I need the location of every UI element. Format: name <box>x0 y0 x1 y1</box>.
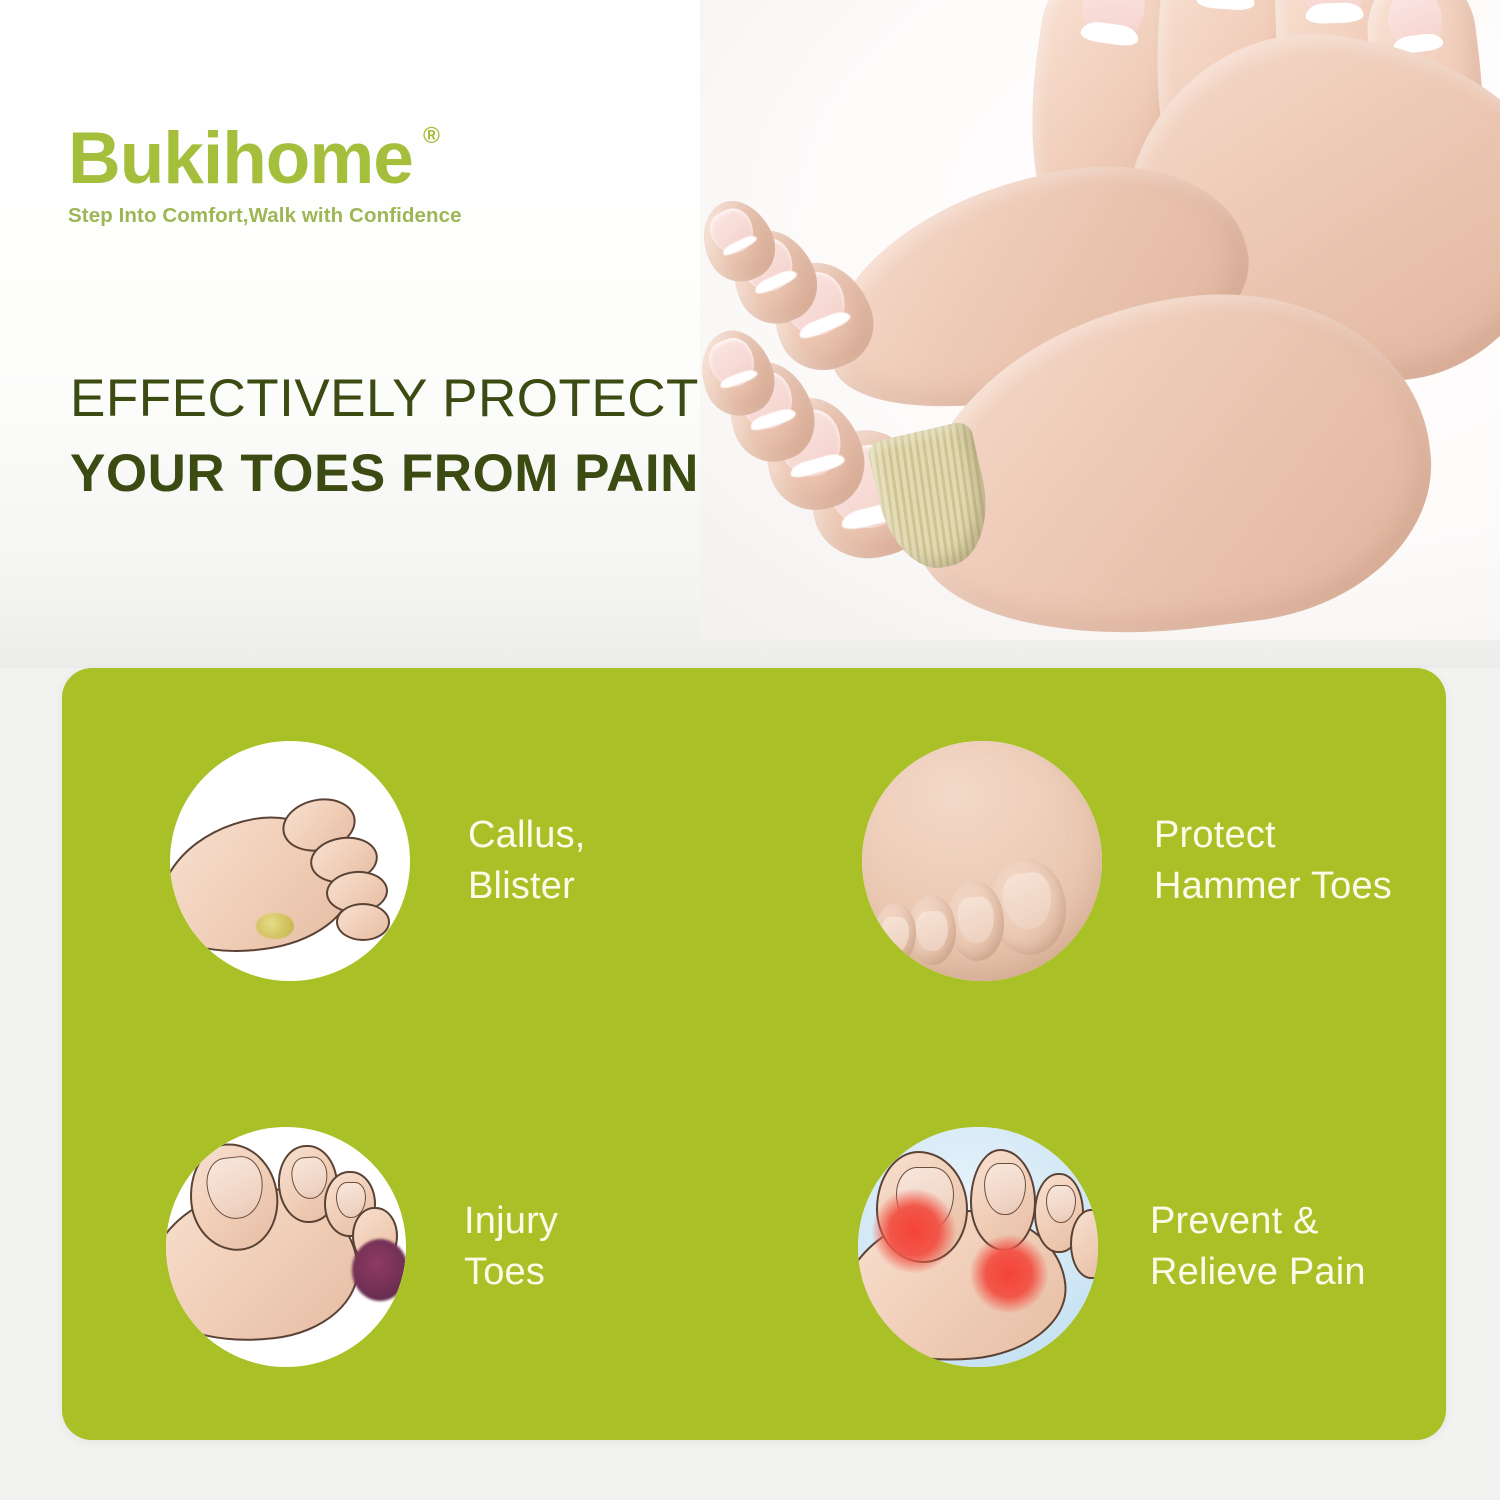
feature-item-callus-blister: Callus, Blister <box>62 668 754 1054</box>
toenail-icon <box>984 1163 1026 1215</box>
feature-label-line-2: Toes <box>464 1247 558 1298</box>
feature-label-prevent-relieve-pain: Prevent & Relieve Pain <box>1150 1196 1366 1298</box>
toenail-icon <box>915 910 948 951</box>
hero-photo <box>700 0 1500 640</box>
feature-label-line-1: Injury <box>464 1196 558 1247</box>
feature-label-line-2: Relieve Pain <box>1150 1247 1366 1298</box>
feature-label-injury-toes: Injury Toes <box>464 1196 558 1298</box>
feature-image-prevent-relieve-pain <box>858 1127 1098 1367</box>
registered-trademark-icon: ® <box>423 124 439 147</box>
brand-name-text: Bukihome <box>68 118 413 199</box>
pain-spot-icon <box>970 1235 1048 1313</box>
callus-spot-icon <box>256 913 294 939</box>
feature-image-injury-toes <box>166 1127 406 1367</box>
toenail-icon <box>1001 871 1055 932</box>
bruised-toe-icon <box>352 1239 406 1301</box>
feature-label-line-1: Prevent & <box>1150 1196 1366 1247</box>
toenail-icon <box>880 917 909 954</box>
feature-label-line-1: Protect <box>1154 810 1392 861</box>
headline-line-2: YOUR TOES FROM PAIN <box>70 447 699 500</box>
fingernail-icon <box>1077 0 1149 49</box>
fingernail-icon <box>1301 0 1366 25</box>
feature-label-line-2: Blister <box>468 861 586 912</box>
product-infographic: Bukihome® Step Into Comfort,Walk with Co… <box>0 0 1500 1500</box>
feature-image-callus-blister <box>170 741 410 981</box>
pain-spot-icon <box>872 1189 956 1273</box>
toenail-icon <box>956 896 995 944</box>
feature-image-hammer-toes <box>862 741 1102 981</box>
toenail-icon <box>290 1156 329 1200</box>
features-card: Callus, Blister <box>62 668 1446 1440</box>
feature-label-line-1: Callus, <box>468 810 586 861</box>
hero-section: Bukihome® Step Into Comfort,Walk with Co… <box>0 0 1500 668</box>
feature-item-injury-toes: Injury Toes <box>62 1054 754 1440</box>
toenail-icon <box>204 1154 266 1222</box>
headline-line-1: EFFECTIVELY PROTECT <box>70 372 699 425</box>
feature-item-prevent-relieve-pain: Prevent & Relieve Pain <box>754 1054 1446 1440</box>
toenail-icon <box>1046 1185 1076 1223</box>
feature-label-hammer-toes: Protect Hammer Toes <box>1154 810 1392 912</box>
feature-item-hammer-toes: Protect Hammer Toes <box>754 668 1446 1054</box>
toenail-icon <box>704 203 761 261</box>
brand-tagline: Step Into Comfort,Walk with Confidence <box>68 204 462 228</box>
features-grid: Callus, Blister <box>62 668 1446 1440</box>
headline: EFFECTIVELY PROTECT YOUR TOES FROM PAIN <box>70 372 699 500</box>
fingernail-icon <box>1194 0 1261 12</box>
brand-name: Bukihome® <box>68 122 413 195</box>
toenail-icon <box>703 333 761 393</box>
feature-label-callus-blister: Callus, Blister <box>468 810 586 912</box>
feature-label-line-2: Hammer Toes <box>1154 861 1392 912</box>
toe-shape <box>336 903 390 941</box>
brand-logo: Bukihome® Step Into Comfort,Walk with Co… <box>68 122 462 228</box>
